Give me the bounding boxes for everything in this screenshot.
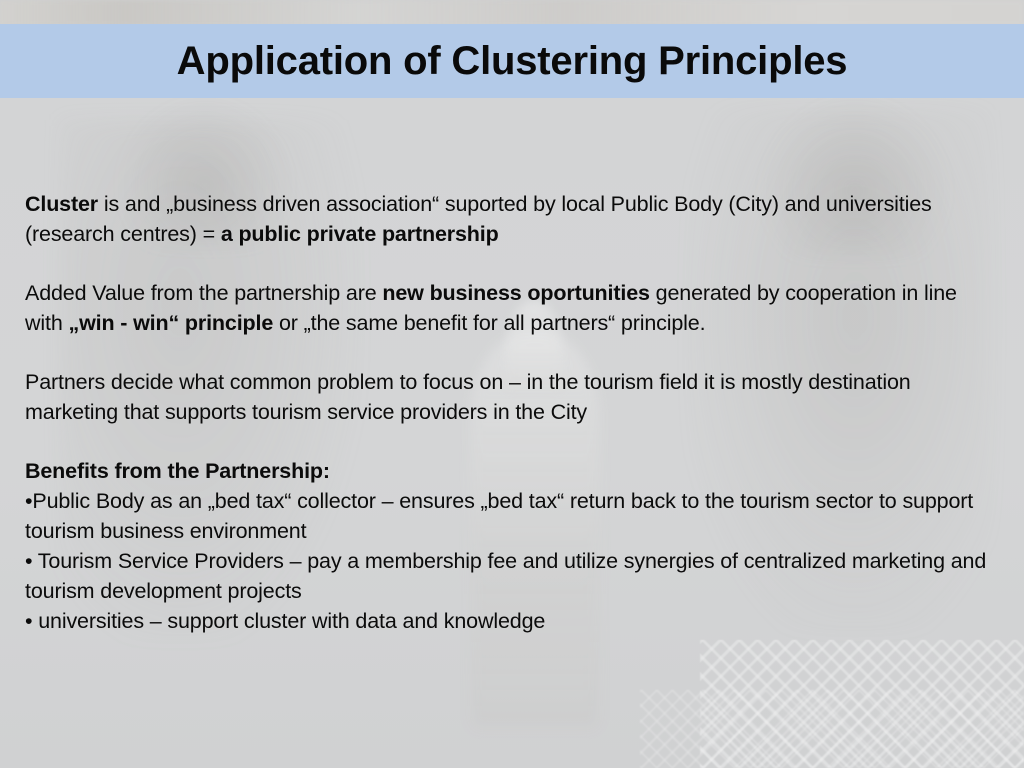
text-run: Partners decide what common problem to f…	[25, 370, 911, 424]
text-run: Added Value from the partnership are	[25, 281, 382, 305]
list-item: •Public Body as an „bed tax“ collector –…	[25, 486, 993, 546]
paragraph-partners-decide: Partners decide what common problem to f…	[25, 367, 993, 427]
slide-body: Cluster is and „business driven associat…	[25, 189, 993, 636]
title-banner: Application of Clustering Principles	[0, 24, 1024, 98]
slide-canvas: Application of Clustering Principles Clu…	[0, 0, 1024, 768]
watermark-chevron-pattern-secondary	[640, 690, 1024, 768]
text-run-bold: „win - win“ principle	[68, 311, 273, 335]
paragraph-cluster-definition: Cluster is and „business driven associat…	[25, 189, 993, 249]
text-run-bold: a public private partnership	[221, 222, 499, 246]
watermark-chevron-pattern	[700, 640, 1024, 768]
paragraph-added-value: Added Value from the partnership are new…	[25, 278, 993, 338]
benefits-list: •Public Body as an „bed tax“ collector –…	[25, 486, 993, 636]
text-run: or „the same benefit for all partners“ p…	[273, 311, 705, 335]
text-run-bold: new business oportunities	[382, 281, 649, 305]
slide-title: Application of Clustering Principles	[177, 41, 848, 81]
list-item: • Tourism Service Providers – pay a memb…	[25, 546, 993, 606]
watermark-top-sheen	[0, 0, 1024, 26]
text-run-bold: Cluster	[25, 192, 98, 216]
benefits-heading: Benefits from the Partnership:	[25, 456, 993, 486]
list-item: • universities – support cluster with da…	[25, 606, 993, 636]
